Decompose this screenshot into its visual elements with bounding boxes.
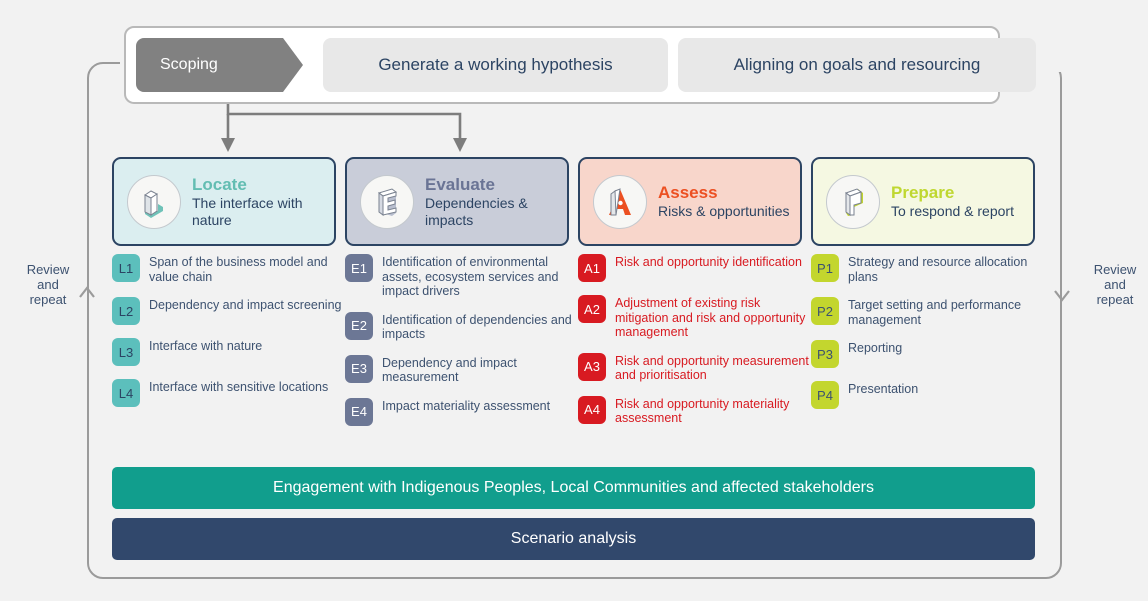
phase-assess-subtitle: Risks & opportunities [658,203,790,220]
step-badge: L2 [112,297,140,325]
phase-locate-subtitle: The interface with nature [192,195,332,229]
step-item[interactable]: L1 Span of the business model and value … [112,254,345,284]
step-list-assess: A1 Risk and opportunity identification A… [578,254,811,439]
step-badge: P1 [811,254,839,282]
phase-evaluate-title: Evaluate [425,175,565,195]
step-label: Target setting and performance managemen… [848,297,1044,327]
review-and-repeat-right: Review and repeat [1072,262,1148,307]
step-item[interactable]: L3 Interface with nature [112,338,345,366]
step-label: Identification of dependencies and impac… [382,312,578,342]
step-badge: E1 [345,254,373,282]
phase-box-prepare[interactable]: Prepare To respond & report [811,157,1035,246]
step-item[interactable]: A3 Risk and opportunity measurement and … [578,353,811,383]
step-item[interactable]: A2 Adjustment of existing risk mitigatio… [578,295,811,340]
phase-assess-text: Assess Risks & opportunities [658,183,790,220]
step-badge: L4 [112,379,140,407]
review-right-line1: Review [1072,262,1148,277]
step-label: Reporting [848,340,902,356]
header-card: Scoping Generate a working hypothesis Al… [124,26,1000,104]
review-right-line3: repeat [1072,292,1148,307]
review-left-line1: Review [5,262,91,277]
step-label: Identification of environmental assets, … [382,254,578,299]
step-label: Dependency and impact measurement [382,355,578,385]
step-item[interactable]: E2 Identification of dependencies and im… [345,312,578,342]
step-item[interactable]: L2 Dependency and impact screening [112,297,345,325]
step-badge: E3 [345,355,373,383]
review-left-line2: and [5,277,91,292]
loop-arrow-down-icon [1053,285,1071,303]
step-list-evaluate: E1 Identification of environmental asset… [345,254,578,439]
locate-isometric-l-icon [127,175,181,229]
phase-locate-title: Locate [192,175,332,195]
phase-prepare-title: Prepare [891,183,1014,203]
step-list-locate: L1 Span of the business model and value … [112,254,345,420]
step-badge: P2 [811,297,839,325]
phase-prepare-text: Prepare To respond & report [891,183,1014,220]
step-label: Risk and opportunity materiality assessm… [615,396,811,426]
step-badge: E2 [345,312,373,340]
phase-evaluate-text: Evaluate Dependencies & impacts [425,175,565,229]
step-label: Impact materiality assessment [382,398,550,414]
step-item[interactable]: P2 Target setting and performance manage… [811,297,1044,327]
step-item[interactable]: E3 Dependency and impact measurement [345,355,578,385]
phase-assess-title: Assess [658,183,790,203]
bottom-bar-scenario[interactable]: Scenario analysis [112,518,1035,560]
step-item[interactable]: E4 Impact materiality assessment [345,398,578,426]
step-label: Interface with nature [149,338,262,354]
step-item[interactable]: E1 Identification of environmental asset… [345,254,578,299]
step-item[interactable]: P1 Strategy and resource allocation plan… [811,254,1044,284]
step-badge: A1 [578,254,606,282]
step-badge: P4 [811,381,839,409]
step-item[interactable]: A1 Risk and opportunity identification [578,254,811,282]
header-pill-aligning[interactable]: Aligning on goals and resourcing [678,38,1036,92]
phase-box-evaluate[interactable]: Evaluate Dependencies & impacts [345,157,569,246]
step-badge: A2 [578,295,606,323]
step-badge: A3 [578,353,606,381]
step-item[interactable]: A4 Risk and opportunity materiality asse… [578,396,811,426]
review-right-line2: and [1072,277,1148,292]
step-label: Risk and opportunity measurement and pri… [615,353,811,383]
phase-locate-text: Locate The interface with nature [192,175,332,229]
diagram-canvas: Review and repeat Review and repeat Scop… [0,0,1148,601]
prepare-isometric-p-icon [826,175,880,229]
header-pill-aligning-label: Aligning on goals and resourcing [734,55,981,75]
phase-prepare-subtitle: To respond & report [891,203,1014,220]
step-badge: A4 [578,396,606,424]
step-label: Span of the business model and value cha… [149,254,345,284]
evaluate-isometric-e-icon [360,175,414,229]
scoping-label: Scoping [136,56,218,74]
step-badge: E4 [345,398,373,426]
review-left-line3: repeat [5,292,91,307]
header-pill-hypothesis[interactable]: Generate a working hypothesis [323,38,668,92]
step-label: Risk and opportunity identification [615,254,802,270]
step-badge: P3 [811,340,839,368]
step-item[interactable]: L4 Interface with sensitive locations [112,379,345,407]
bottom-bar-engagement-label: Engagement with Indigenous Peoples, Loca… [273,479,874,497]
phase-box-locate[interactable]: Locate The interface with nature [112,157,336,246]
step-list-prepare: P1 Strategy and resource allocation plan… [811,254,1044,422]
step-item[interactable]: P3 Reporting [811,340,1044,368]
step-label: Adjustment of existing risk mitigation a… [615,295,811,340]
step-label: Presentation [848,381,918,397]
step-label: Interface with sensitive locations [149,379,328,395]
phase-box-assess[interactable]: Assess Risks & opportunities [578,157,802,246]
step-item[interactable]: P4 Presentation [811,381,1044,409]
phase-evaluate-subtitle: Dependencies & impacts [425,195,565,229]
step-badge: L1 [112,254,140,282]
step-badge: L3 [112,338,140,366]
scoping-chevron[interactable]: Scoping [136,38,283,92]
assess-isometric-a-icon [593,175,647,229]
review-and-repeat-left: Review and repeat [5,262,91,307]
bottom-bar-scenario-label: Scenario analysis [511,530,636,548]
step-label: Dependency and impact screening [149,297,341,313]
header-pill-hypothesis-label: Generate a working hypothesis [378,55,612,75]
step-label: Strategy and resource allocation plans [848,254,1044,284]
bottom-bar-engagement[interactable]: Engagement with Indigenous Peoples, Loca… [112,467,1035,509]
